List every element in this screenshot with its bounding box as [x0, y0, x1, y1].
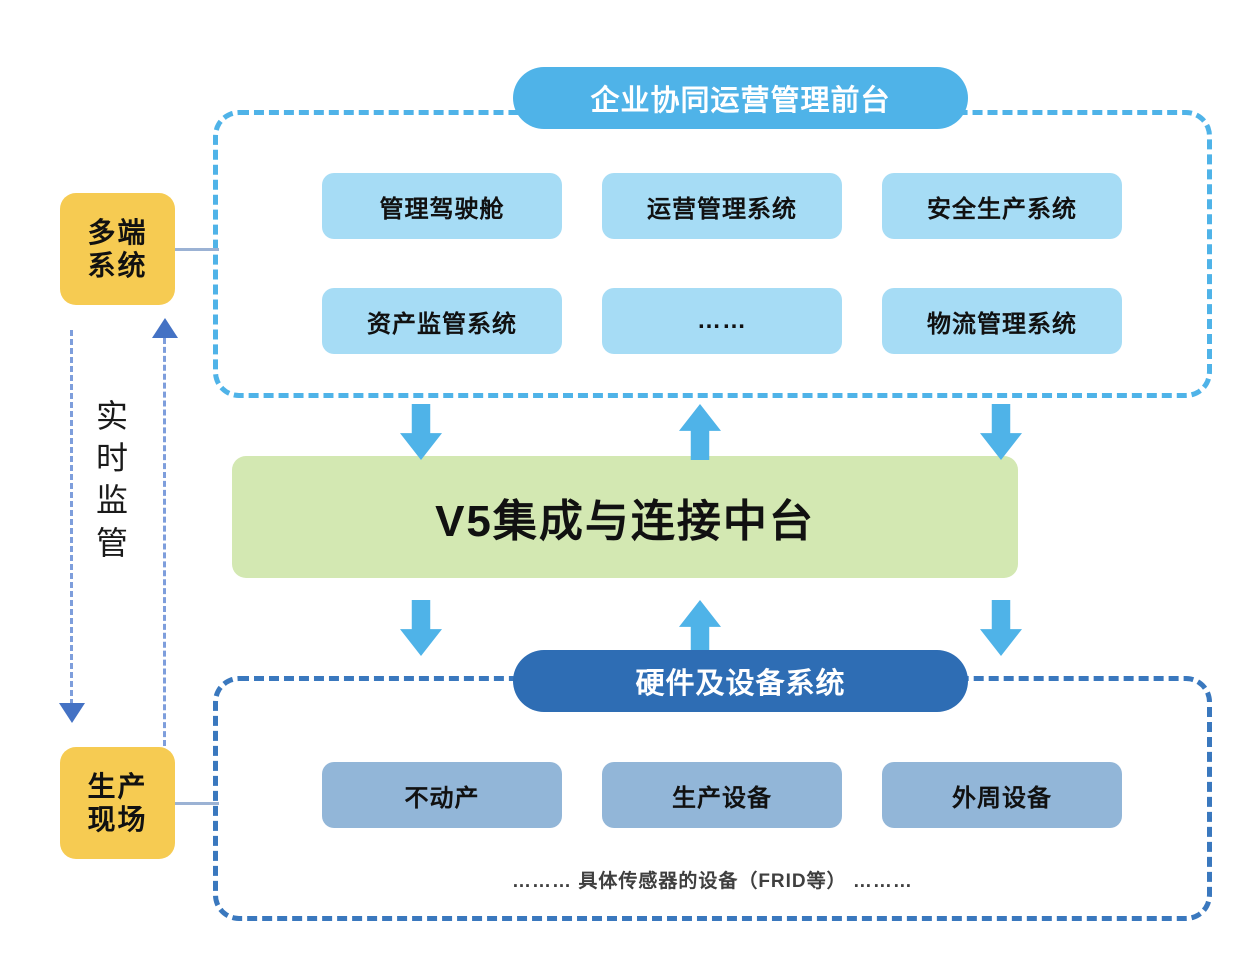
side-tab-label-line1: 生产	[87, 770, 147, 803]
module-label: 生产设备	[672, 778, 772, 813]
arrow-up-icon-supervision	[152, 318, 178, 338]
module-label: 运营管理系统	[647, 189, 797, 224]
front-layer-header-label: 企业协同运营管理前台	[590, 77, 890, 119]
arrow-down-icon-device-left	[400, 600, 442, 656]
module-box-logistics-management[interactable]: 物流管理系统	[882, 288, 1122, 354]
module-label: 安全生产系统	[927, 189, 1077, 224]
side-tab-multi-terminal-system[interactable]: 多端 系统	[60, 193, 175, 305]
flow-line-downward	[70, 330, 73, 705]
sensor-devices-caption: ……… 具体传感器的设备（FRID等） ………	[213, 866, 1212, 893]
arrow-up-icon-front-middle	[679, 404, 721, 460]
integration-platform-band[interactable]: V5集成与连接中台	[232, 456, 1018, 578]
module-box-operations-management[interactable]: 运营管理系统	[602, 173, 842, 239]
arrow-down-icon-device-right	[980, 600, 1022, 656]
side-tab-label-line2: 现场	[87, 803, 147, 836]
architecture-diagram: 企业协同运营管理前台 管理驾驶舱 运营管理系统 安全生产系统 资产监管系统 ………	[0, 0, 1260, 978]
connector-line-multi-terminal	[175, 248, 219, 251]
module-box-safety-production[interactable]: 安全生产系统	[882, 173, 1122, 239]
connector-line-production-site	[175, 802, 219, 805]
side-tab-label-line1: 多端	[87, 216, 147, 249]
front-layer-header-pill[interactable]: 企业协同运营管理前台	[513, 67, 968, 129]
arrow-down-icon-supervision	[59, 703, 85, 723]
real-time-supervision-label: 实 时 监 管	[92, 395, 132, 564]
module-box-management-cockpit[interactable]: 管理驾驶舱	[322, 173, 562, 239]
device-layer-header-pill[interactable]: 硬件及设备系统	[513, 650, 968, 712]
module-label: 管理驾驶舱	[380, 189, 505, 224]
front-layer-group-frame	[213, 110, 1212, 398]
flow-label-char-1: 实	[92, 395, 132, 437]
platform-label: V5集成与连接中台	[435, 485, 815, 549]
flow-label-char-4: 管	[92, 522, 132, 564]
module-label: ……	[697, 307, 747, 335]
side-tab-production-site[interactable]: 生产 现场	[60, 747, 175, 859]
flow-line-upward	[163, 338, 166, 746]
device-layer-header-label: 硬件及设备系统	[635, 660, 845, 702]
module-box-peripheral-equipment[interactable]: 外周设备	[882, 762, 1122, 828]
module-label: 物流管理系统	[927, 304, 1077, 339]
module-box-more-placeholder[interactable]: ……	[602, 288, 842, 354]
arrow-down-icon-front-left	[400, 404, 442, 460]
arrow-down-icon-front-right	[980, 404, 1022, 460]
module-label: 不动产	[405, 778, 480, 813]
module-box-asset-supervision[interactable]: 资产监管系统	[322, 288, 562, 354]
flow-label-char-3: 监	[92, 479, 132, 521]
module-label: 外周设备	[952, 778, 1052, 813]
module-box-production-equipment[interactable]: 生产设备	[602, 762, 842, 828]
side-tab-label-line2: 系统	[87, 249, 147, 282]
module-label: 资产监管系统	[367, 304, 517, 339]
arrow-up-icon-device-middle	[679, 600, 721, 656]
module-box-real-estate[interactable]: 不动产	[322, 762, 562, 828]
flow-label-char-2: 时	[92, 437, 132, 479]
